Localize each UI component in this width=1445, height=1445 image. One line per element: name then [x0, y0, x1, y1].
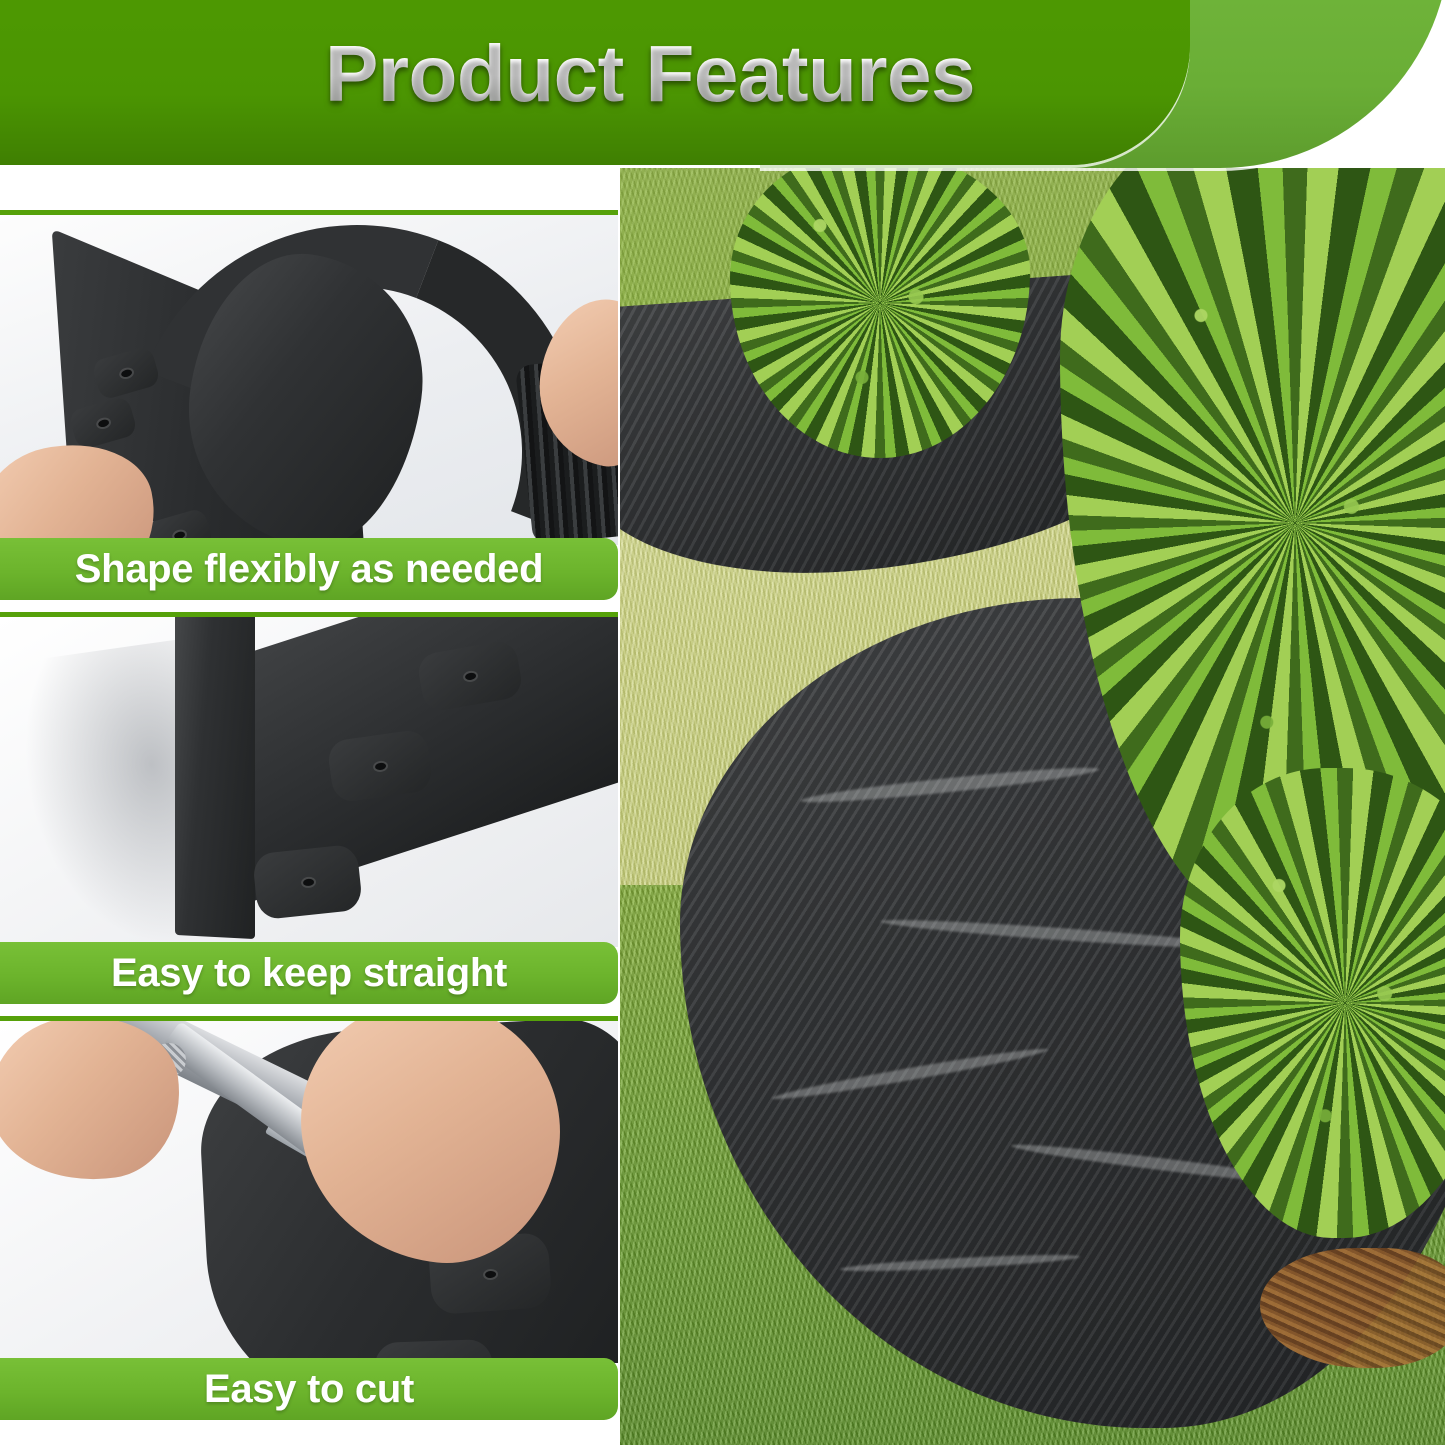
installed-edging-photo	[620, 168, 1445, 1445]
feature-caption-text: Shape flexibly as needed	[75, 549, 544, 589]
feature-panel: Shape flexibly as needed	[0, 210, 618, 600]
feature-caption-text: Easy to cut	[204, 1369, 414, 1409]
fabric-crease	[840, 1252, 1080, 1275]
fabric-crease	[800, 762, 1100, 807]
feature-caption-text: Easy to keep straight	[111, 953, 507, 993]
feature-caption-shape-flexibly: Shape flexibly as needed	[0, 538, 618, 600]
feature-photo-shape-flexibly	[0, 210, 618, 545]
product-features-infographic: Product Features Shape flexibly as neede…	[0, 0, 1445, 1445]
feature-caption-keep-straight: Easy to keep straight	[0, 942, 618, 1004]
anchor-stake	[252, 844, 363, 921]
feature-caption-easy-to-cut: Easy to cut	[0, 1358, 618, 1420]
header-light-green-shape	[760, 0, 1445, 168]
feature-panel: Easy to cut	[0, 1016, 618, 1420]
feature-panel: Easy to keep straight	[0, 612, 618, 1004]
feature-panel-list: Shape flexibly as needed Easy to keep st…	[0, 0, 620, 1445]
feature-photo-easy-to-cut	[0, 1016, 618, 1363]
edging-strip-wall	[175, 612, 255, 939]
fabric-crease	[771, 1044, 1049, 1104]
feature-photo-keep-straight	[0, 612, 618, 947]
